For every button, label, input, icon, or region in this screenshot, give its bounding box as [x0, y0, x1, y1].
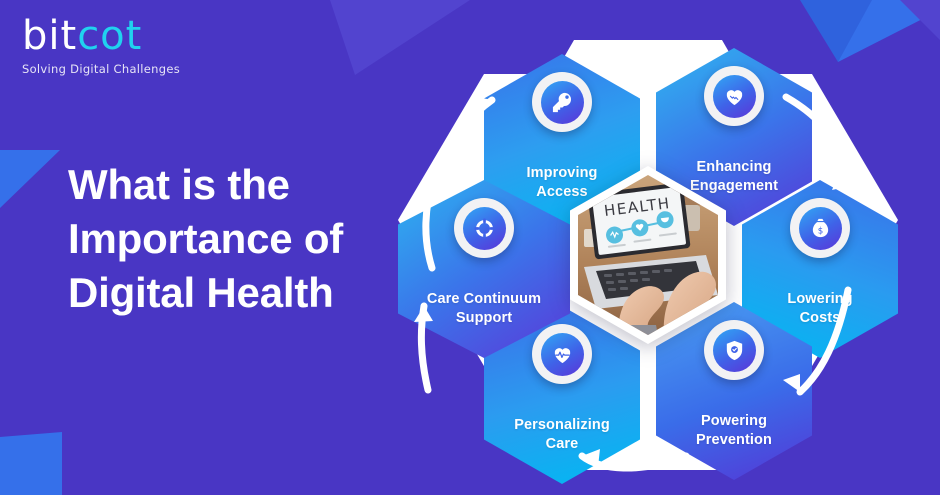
- page-title-line-1: What is the: [68, 158, 418, 212]
- hex-label-line-2: Care: [490, 435, 634, 454]
- icon-disc: [541, 81, 584, 124]
- logo-wordmark: bitcot: [22, 16, 202, 56]
- heart-handshake-icon: [704, 66, 764, 126]
- logo-tagline: Solving Digital Challenges: [22, 62, 202, 76]
- hex-label-line-2: Support: [404, 309, 564, 328]
- logo-text-cot: cot: [77, 13, 142, 59]
- hex-label: Powering Prevention: [662, 412, 806, 450]
- hex-label-line-1: Care Continuum: [404, 290, 564, 309]
- hexagon-diagram: Improving Access Enhancing Engagement: [398, 40, 898, 470]
- hex-label-line-1: Personalizing: [490, 416, 634, 435]
- hex-label: Personalizing Care: [490, 416, 634, 454]
- lifebuoy-icon: [454, 198, 514, 258]
- icon-disc: [713, 75, 756, 118]
- triangle-left-bottom: [0, 432, 62, 495]
- logo-text-bit: bit: [22, 13, 77, 59]
- center-photo-hexagon: HEALTH: [570, 166, 726, 344]
- icon-disc: [463, 207, 506, 250]
- svg-text:$: $: [817, 226, 822, 236]
- hex-label: Care Continuum Support: [404, 290, 564, 328]
- page-title-line-3: Digital Health: [68, 266, 418, 320]
- money-bag-icon: $: [790, 198, 850, 258]
- key-icon: [532, 72, 592, 132]
- page-title-line-2: Importance of: [68, 212, 418, 266]
- hex-label-line-2: Prevention: [662, 431, 806, 450]
- infographic-canvas: bitcot Solving Digital Challenges What i…: [0, 0, 940, 495]
- hex-label-line-1: Powering: [662, 412, 806, 431]
- hex-shape: Care Continuum Support: [398, 180, 570, 358]
- brand-logo[interactable]: bitcot Solving Digital Challenges: [22, 16, 202, 76]
- hex-care-continuum-support[interactable]: Care Continuum Support: [398, 180, 570, 358]
- icon-disc: $: [799, 207, 842, 250]
- page-title: What is the Importance of Digital Health: [68, 158, 418, 319]
